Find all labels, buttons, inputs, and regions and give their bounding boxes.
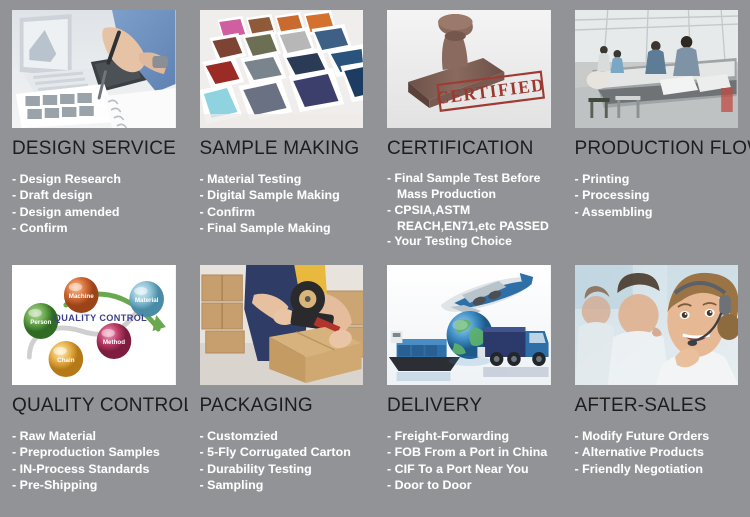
sample-making-photo <box>200 10 364 128</box>
list-item: - Draft design <box>12 187 176 203</box>
list-item-continuation: Mass Production <box>387 187 551 203</box>
list-item: - Material Testing <box>200 171 364 187</box>
panel-delivery: DELIVERY - Freight-Forwarding - FOB From… <box>375 255 563 517</box>
list-item: - Alternative Products <box>575 444 739 460</box>
list-item: - Modify Future Orders <box>575 428 739 444</box>
list-item: - 5-Fly Corrugated Carton <box>200 444 364 460</box>
panel-bullets: - Design Research - Draft design - Desig… <box>12 171 176 237</box>
list-item: - Final Sample Making <box>200 220 364 236</box>
panel-bullets: - Raw Material - Preproduction Samples -… <box>12 428 176 494</box>
list-item: - Your Testing Choice <box>387 234 551 250</box>
panel-bullets: - Freight-Forwarding - FOB From a Port i… <box>387 428 551 494</box>
qc-node-machine: Machine <box>64 277 99 313</box>
svg-text:Material: Material <box>135 297 159 304</box>
svg-text:Person: Person <box>30 319 51 326</box>
panel-title: DELIVERY <box>387 396 551 416</box>
panel-title: PACKAGING <box>200 396 364 416</box>
qc-node-chain: Chain <box>49 341 84 377</box>
svg-text:Machine: Machine <box>69 293 94 300</box>
qc-node-method: Method <box>97 323 132 359</box>
panel-bullets: - Material Testing - Digital Sample Maki… <box>200 171 364 237</box>
list-item: - Sampling <box>200 477 364 493</box>
panel-bullets: - Modify Future Orders - Alternative Pro… <box>575 428 739 477</box>
list-item: - Printing <box>575 171 739 187</box>
packaging-photo <box>200 265 364 385</box>
svg-text:Chain: Chain <box>57 357 74 364</box>
panel-packaging: PACKAGING - Customzied - 5-Fly Corrugate… <box>188 255 376 517</box>
panel-title: AFTER-SALES <box>575 396 739 416</box>
list-item: - Door to Door <box>387 477 551 493</box>
panel-production-flows: PRODUCTION FLOWS - Printing - Processing… <box>563 0 750 255</box>
list-item: - Friendly Negotiation <box>575 461 739 477</box>
design-service-photo <box>12 10 176 128</box>
list-item: - Freight-Forwarding <box>387 428 551 444</box>
panel-quality-control: Person Machine Material Method <box>0 255 188 517</box>
list-item: - Pre-Shipping <box>12 477 176 493</box>
delivery-photo <box>387 265 551 385</box>
list-item: - FOB From a Port in China <box>387 444 551 460</box>
panel-after-sales: AFTER-SALES - Modify Future Orders - Alt… <box>563 255 750 517</box>
panel-certification: CERTIFIED CERTIFICATION - Final Sample T… <box>375 0 563 255</box>
list-item: - Customzied <box>200 428 364 444</box>
panel-bullets: - Final Sample Test Before Mass Producti… <box>387 171 551 250</box>
list-item: - CIF To a Port Near You <box>387 461 551 477</box>
list-item: - Confirm <box>200 204 364 220</box>
qc-node-material: Material <box>129 281 164 317</box>
list-item: - Durability Testing <box>200 461 364 477</box>
svg-text:Method: Method <box>103 339 125 346</box>
panel-bullets: - Printing - Processing - Assembling <box>575 171 739 220</box>
list-item: - Raw Material <box>12 428 176 444</box>
panel-title: PRODUCTION FLOWS <box>575 139 739 159</box>
list-item-continuation: REACH,EN71,etc PASSED <box>387 219 551 235</box>
list-item: - Design Research <box>12 171 176 187</box>
list-item: - Design amended <box>12 204 176 220</box>
list-item: - CPSIA,ASTM <box>387 203 551 219</box>
panel-title: CERTIFICATION <box>387 139 551 159</box>
list-item: - Digital Sample Making <box>200 187 364 203</box>
list-item: - Assembling <box>575 204 739 220</box>
panel-sample-making: SAMPLE MAKING - Material Testing - Digit… <box>188 0 376 255</box>
panel-bullets: - Customzied - 5-Fly Corrugated Carton -… <box>200 428 364 494</box>
list-item: - Final Sample Test Before <box>387 171 551 187</box>
list-item: - Processing <box>575 187 739 203</box>
panel-title: DESIGN SERVICE <box>12 139 176 159</box>
list-item: - Preproduction Samples <box>12 444 176 460</box>
list-item: - IN-Process Standards <box>12 461 176 477</box>
panel-design-service: DESIGN SERVICE - Design Research - Draft… <box>0 0 188 255</box>
certification-photo: CERTIFIED <box>387 10 551 128</box>
list-item: - Confirm <box>12 220 176 236</box>
service-process-board: DESIGN SERVICE - Design Research - Draft… <box>0 0 750 517</box>
qc-center-label: QUALITY CONTROL <box>54 313 147 323</box>
panel-title: QUALITY CONTROL <box>12 396 176 416</box>
after-sales-photo <box>575 265 739 385</box>
panel-title: SAMPLE MAKING <box>200 139 364 159</box>
quality-control-diagram: Person Machine Material Method <box>12 265 176 385</box>
production-flows-photo <box>575 10 739 128</box>
